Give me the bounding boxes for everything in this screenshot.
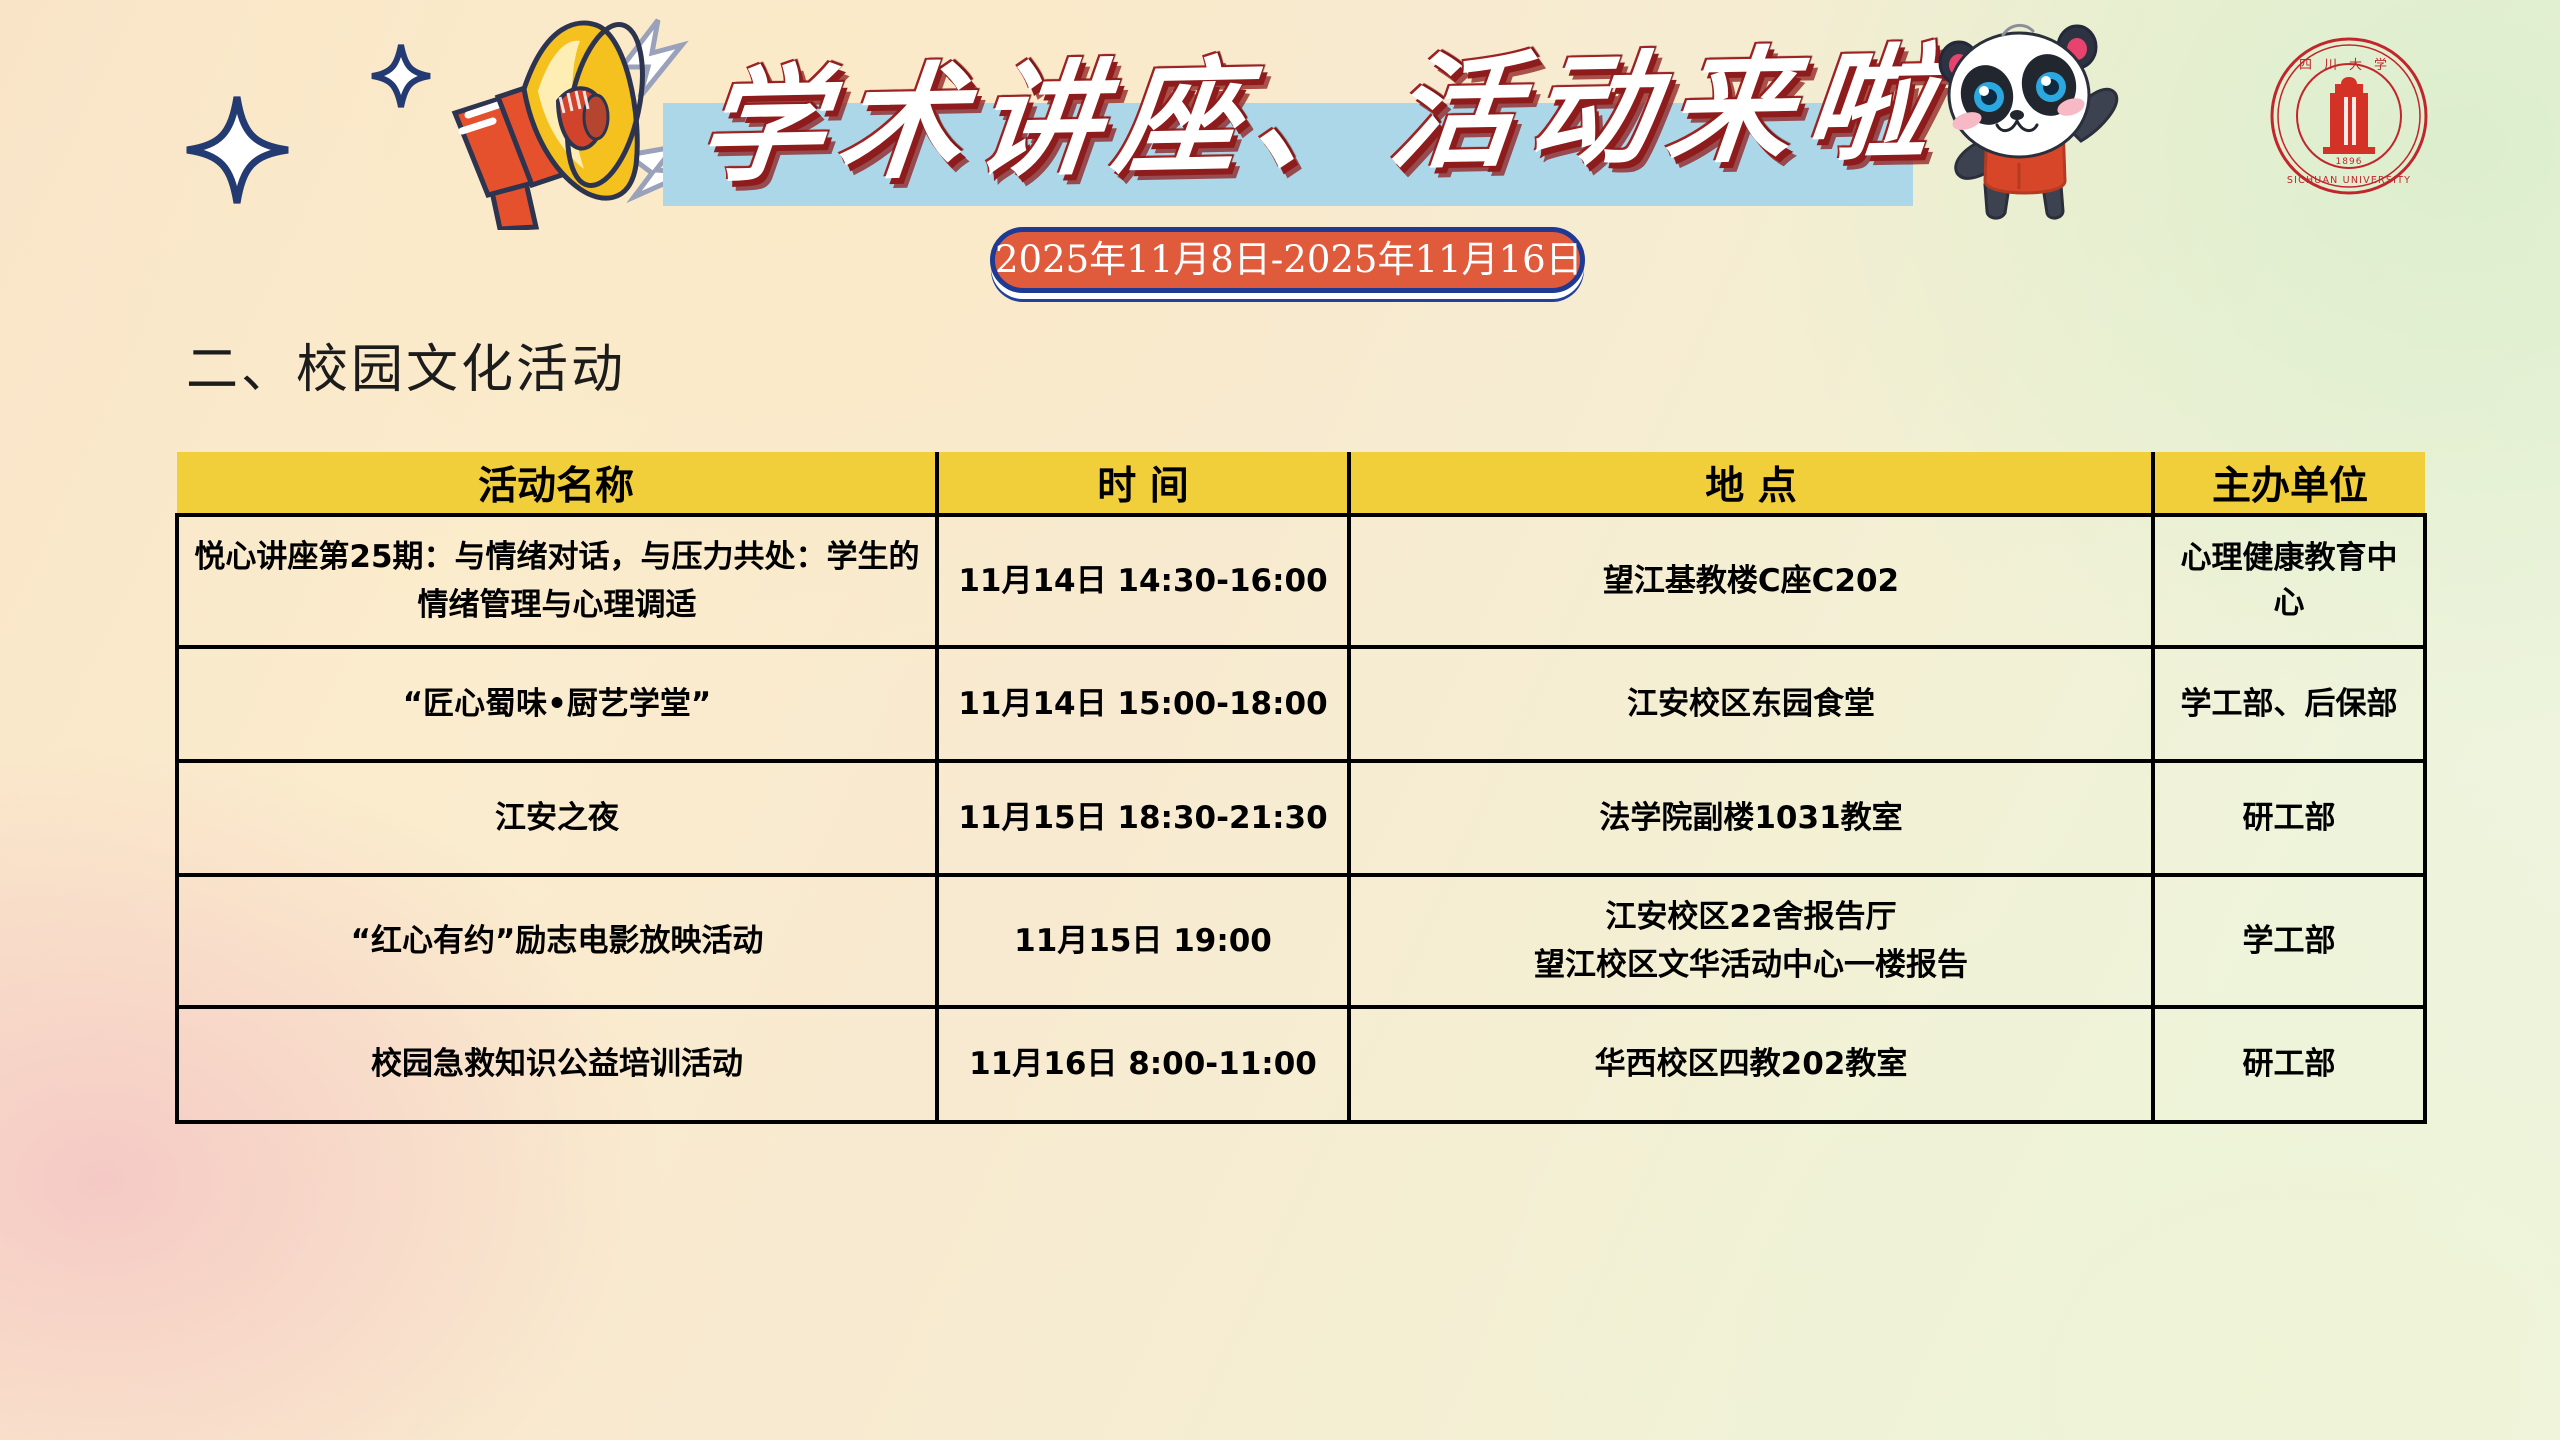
date-range-badge: 2025年11月8日-2025年11月16日 [990,227,1585,293]
cell-activity-place: 望江基教楼C座C202 [1349,515,2153,647]
table-row: 校园急救知识公益培训活动 11月16日 8:00-11:00 华西校区四教202… [177,1007,2425,1122]
table-header: 活动名称 时 间 地 点 主办单位 [177,452,2425,515]
cell-activity-org: 心理健康教育中心 [2153,515,2425,647]
column-header-time: 时 间 [937,452,1349,515]
poster-canvas: 学术讲座、活动来啦 2025年11月8日-2025年11月16日 [0,0,2560,1440]
cell-activity-org: 研工部 [2153,1007,2425,1122]
cell-activity-time: 11月14日 15:00-18:00 [937,647,1349,761]
table-row: 江安之夜 11月15日 18:30-21:30 法学院副楼1031教室 研工部 [177,761,2425,875]
cell-activity-place: 法学院副楼1031教室 [1349,761,2153,875]
cell-activity-place: 华西校区四教202教室 [1349,1007,2153,1122]
cell-activity-name: 悦心讲座第25期：与情绪对话，与压力共处：学生的情绪管理与心理调适 [177,515,937,647]
cell-activity-org: 学工部 [2153,875,2425,1007]
table-body: 悦心讲座第25期：与情绪对话，与压力共处：学生的情绪管理与心理调适 11月14日… [177,515,2425,1122]
cell-activity-name: 江安之夜 [177,761,937,875]
cell-activity-time: 11月14日 14:30-16:00 [937,515,1349,647]
table-row: “匠心蜀味•厨艺学堂” 11月14日 15:00-18:00 江安校区东园食堂 … [177,647,2425,761]
cell-activity-time: 11月15日 19:00 [937,875,1349,1007]
activity-table-container: 活动名称 时 间 地 点 主办单位 悦心讲座第25期：与情绪对话，与压力共处：学… [175,452,2423,1124]
column-header-place: 地 点 [1349,452,2153,515]
cell-activity-name: “匠心蜀味•厨艺学堂” [177,647,937,761]
cell-activity-time: 11月15日 18:30-21:30 [937,761,1349,875]
column-header-name: 活动名称 [177,452,937,515]
cell-activity-place: 江安校区东园食堂 [1349,647,2153,761]
table-row: “红心有约”励志电影放映活动 11月15日 19:00 江安校区22舍报告厅 望… [177,875,2425,1007]
cell-activity-name: 校园急救知识公益培训活动 [177,1007,937,1122]
logo-bottom-text: SICHUAN UNIVERSITY [2287,175,2411,186]
cell-activity-org: 学工部、后保部 [2153,647,2425,761]
poster-title: 学术讲座、活动来啦 [691,15,1912,218]
cell-activity-place: 江安校区22舍报告厅 望江校区文华活动中心一楼报告 [1349,875,2153,1007]
activity-table: 活动名称 时 间 地 点 主办单位 悦心讲座第25期：与情绪对话，与压力共处：学… [175,452,2427,1124]
table-row: 悦心讲座第25期：与情绪对话，与压力共处：学生的情绪管理与心理调适 11月14日… [177,515,2425,647]
sichuan-university-logo-icon: 四川大学 1896 SICHUAN UNIVERSITY [2268,35,2430,197]
panda-mascot-icon [1925,5,2140,225]
page-title: 二、校园文化活动 [186,327,626,402]
cell-activity-time: 11月16日 8:00-11:00 [937,1007,1349,1122]
column-header-org: 主办单位 [2153,452,2425,515]
sparkle-icon [185,95,290,205]
poster-header: 学术讲座、活动来啦 2025年11月8日-2025年11月16日 [0,0,2560,300]
cell-activity-org: 研工部 [2153,761,2425,875]
logo-top-text: 四川大学 [2299,57,2399,73]
cell-activity-name: “红心有约”励志电影放映活动 [177,875,937,1007]
megaphone-icon [300,5,720,230]
table-header-row: 活动名称 时 间 地 点 主办单位 [177,452,2425,515]
logo-year-text: 1896 [2336,157,2363,167]
